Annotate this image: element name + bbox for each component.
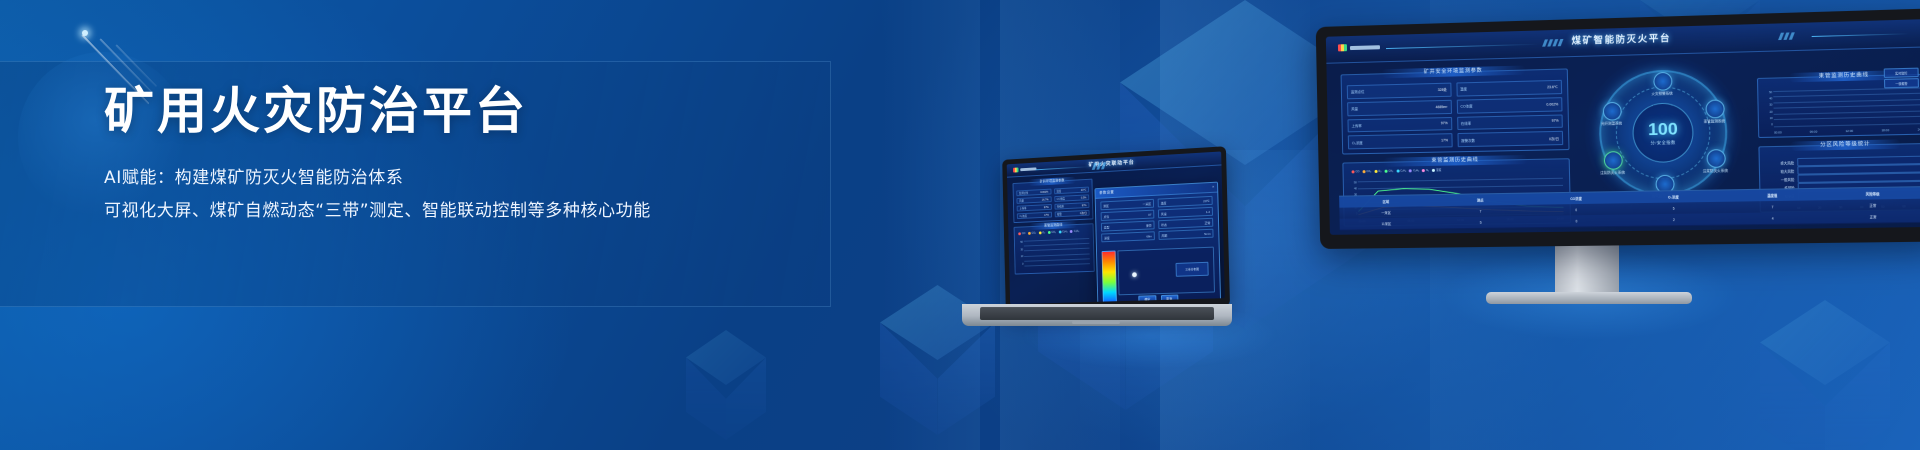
bar-label: 一般风险	[1767, 176, 1795, 182]
kv-label: 报警次数	[1461, 137, 1475, 142]
laptop-y-axis: 50 30 10 0	[1017, 241, 1024, 266]
risk-bars-caption: 分区风险等级统计	[1790, 139, 1901, 151]
table-cell: 正常	[1823, 213, 1920, 220]
table-header-cell: CO浓度	[1528, 195, 1625, 202]
legend-item: CO	[1352, 169, 1360, 173]
table-cell: 5	[1433, 220, 1528, 225]
right-trend-gridlines	[1773, 87, 1920, 126]
status-kv-grid: 监测点位328处 温度23.6℃ 风量4685m³ CO浓度0.002% 上传率…	[1347, 80, 1563, 150]
logo-mark-icon	[1338, 44, 1347, 51]
laptop-kv: 监测点位0.001%	[1016, 189, 1051, 197]
laptop-keyboard	[980, 307, 1214, 320]
y-tick: 20	[1763, 110, 1773, 113]
kv-label: 在线率	[1057, 204, 1064, 208]
hero-content: 矿用火灾防治平台 AI赋能：构建煤矿防灭火智能防治体系 可视化大屏、煤矿自燃动态…	[104, 82, 824, 228]
bar-label: 较大风险	[1766, 168, 1794, 174]
status-kv: 上传率97%	[1347, 116, 1451, 132]
field-label: 深度	[1104, 236, 1110, 240]
table-cell: 5	[1625, 205, 1723, 211]
y-tick: 50	[1763, 91, 1773, 94]
laptop-screen: 矿用火灾联动平台 矿井环境监测参数 监测点位0.001% 温度23℃ 风量16.…	[1007, 151, 1225, 304]
laptop-kv: 温度23℃	[1054, 187, 1089, 195]
kv-label: 上传率	[1019, 206, 1026, 210]
y-tick: 0	[1763, 123, 1773, 126]
field-value: 正常	[1204, 220, 1210, 224]
kv-label: 报警	[1057, 212, 1062, 216]
laptop-chart-caption: 束管监测曲线	[1030, 221, 1077, 230]
laptop-param-caption: 矿井环境监测参数	[1029, 177, 1076, 186]
legend-item: CO₂	[1362, 169, 1371, 173]
field-value: 束管	[1146, 223, 1152, 227]
modal-field[interactable]: 测区一采区	[1100, 199, 1154, 210]
gauge-node-label: 束管监测系统	[1693, 118, 1735, 124]
header-deco-bars-icon	[1543, 39, 1562, 47]
laptop-chart-panel: 束管监测曲线 CO CO₂ O₂ CH₄ C₂H₄ C₂H₆ 50 30	[1014, 223, 1095, 274]
status-kv: 在线率97%	[1457, 114, 1563, 130]
legend-item: N₂	[1422, 168, 1429, 172]
page-title: 矿用火灾防治平台	[104, 82, 824, 140]
y-tick: 0	[1017, 263, 1023, 266]
logo-text-icon	[1020, 167, 1036, 171]
modal-field[interactable]: 状态正常	[1158, 218, 1213, 229]
laptop-base	[962, 304, 1232, 326]
kv-label: 风量	[1019, 199, 1024, 203]
kv-value: 0次/日	[1549, 136, 1559, 141]
field-label: 状态	[1161, 222, 1167, 226]
table-cell: 4	[1723, 215, 1823, 221]
legend-item: 温度	[1432, 168, 1441, 172]
modal-field[interactable]: 点位07	[1101, 210, 1155, 221]
monitor-screen: 煤矿智能防灭火平台 矿井安全环境监测参数 监测点位328处 温度	[1326, 19, 1920, 235]
table-cell: 0	[1528, 207, 1625, 213]
kv-label: 监测点位	[1019, 191, 1028, 195]
modal-field[interactable]: 周期5min	[1158, 229, 1213, 240]
legend-item: CO	[1018, 232, 1025, 235]
y-tick: 10	[1763, 117, 1773, 120]
modal-form: 测区一采区 温度23℃ 点位07 风速1.2 类型束管 状态正常 深度68m 周…	[1100, 196, 1213, 242]
laptop-kv-grid: 监测点位0.001% 温度23℃ 风量16.7% CO浓度0.3% 上传率97%…	[1016, 187, 1089, 220]
table-header-cell: 区域	[1339, 198, 1433, 205]
gauge-node-label: 光纤测温系统	[1591, 120, 1633, 126]
logo-text-icon	[1350, 45, 1380, 50]
settings-modal[interactable]: 参数设置 × 测区一采区 温度23℃ 点位07 风速1.2 类型束管 状态正常 …	[1094, 182, 1221, 305]
close-icon[interactable]: ×	[1212, 184, 1214, 188]
legend-item: CH₄	[1048, 231, 1056, 234]
kv-label: 温度	[1056, 189, 1061, 193]
kv-label: 温度	[1460, 87, 1467, 92]
status-panel: 矿井安全环境监测参数 监测点位328处 温度23.6℃ 风量4685m³ CO浓…	[1341, 68, 1570, 154]
status-panel-caption: 矿井安全环境监测参数	[1381, 65, 1525, 78]
x-tick: 00:00	[1774, 130, 1782, 134]
safety-gauge: 100 分/安全指数 火灾预警系统 束管监测系统 光纤测温系统 注氮防灭火系统 …	[1583, 54, 1744, 212]
kv-label: 监测点位	[1351, 89, 1365, 94]
trend-panel-caption: 束管监测历史曲线	[1383, 155, 1527, 167]
kv-value: 16.7%	[1042, 198, 1049, 201]
field-value: 68m	[1146, 234, 1152, 238]
y-tick: 50	[1348, 181, 1357, 184]
table-cell: 7	[1433, 208, 1528, 213]
badge-realtime[interactable]: 实时监控	[1884, 68, 1919, 78]
right-trend-y-axis: 50 40 30 20 10 0	[1763, 91, 1773, 126]
x-tick: 06:00	[1810, 130, 1818, 134]
laptop-kv: 在线率97%	[1054, 202, 1089, 210]
logo-mark-icon	[1013, 167, 1018, 172]
y-tick: 30	[1763, 104, 1773, 107]
table-header-cell: O₂浓度	[1624, 194, 1722, 201]
gauge-node-label: 注浆防灭火系统	[1694, 167, 1736, 173]
laptop-trackpad	[1072, 321, 1120, 324]
status-kv: 温度23.6℃	[1456, 80, 1562, 97]
kv-value: 328处	[1438, 87, 1447, 92]
laptop-device: 矿用火灾联动平台 矿井环境监测参数 监测点位0.001% 温度23℃ 风量16.…	[962, 146, 1232, 326]
monitor-bezel: 煤矿智能防灭火平台 矿井安全环境监测参数 监测点位328处 温度	[1316, 8, 1920, 249]
field-value: 一采区	[1143, 201, 1152, 205]
laptop-lid: 矿用火灾联动平台 矿井环境监测参数 监测点位0.001% 温度23℃ 风量16.…	[1002, 146, 1230, 312]
monitor-dashboard: 煤矿智能防灭火平台 矿井安全环境监测参数 监测点位328处 温度	[1326, 19, 1920, 235]
hero-banner: 矿用火灾防治平台 AI赋能：构建煤矿防灭火智能防治体系 可视化大屏、煤矿自燃动态…	[0, 0, 1920, 450]
y-tick: 50	[1017, 241, 1023, 244]
laptop-kv: O₂浓度17%	[1017, 212, 1052, 219]
kv-value: 97%	[1044, 206, 1049, 209]
hero-subtitle-line-1: AI赋能：构建煤矿防灭火智能防治体系	[104, 162, 824, 195]
kv-value: 0次/日	[1080, 211, 1087, 215]
laptop-gridlines	[1024, 238, 1090, 266]
legend-item: C₂H₆	[1070, 230, 1079, 233]
hero-subtitles: AI赋能：构建煤矿防灭火智能防治体系 可视化大屏、煤矿自燃动态“三带”测定、智能…	[104, 162, 824, 228]
table-cell: 0	[1528, 218, 1625, 223]
laptop-kv: 风量16.7%	[1016, 196, 1051, 204]
kv-value: 97%	[1552, 119, 1559, 123]
y-tick: 10	[1017, 255, 1023, 258]
decorative-cube	[1760, 300, 1890, 450]
table-cell: 7	[1723, 204, 1823, 210]
monitor-stand	[1555, 244, 1619, 298]
kv-value: 23.6℃	[1547, 85, 1558, 89]
monitor-base	[1486, 292, 1692, 304]
field-label: 温度	[1161, 201, 1167, 205]
kv-value: 17%	[1441, 138, 1448, 142]
cancel-button[interactable]: 取消	[1161, 295, 1178, 303]
kv-value: 0.3%	[1081, 196, 1087, 199]
kv-value: 17%	[1044, 213, 1049, 216]
gauge-value: 100	[1648, 119, 1678, 140]
y-tick: 40	[1348, 188, 1357, 191]
header-deco-bars-icon	[1779, 32, 1793, 40]
laptop-param-panel: 矿井环境监测参数 监测点位0.001% 温度23℃ 风量16.7% CO浓度0.…	[1013, 179, 1094, 223]
table-header-cell: 测点	[1433, 197, 1528, 204]
kv-value: 0.002%	[1546, 102, 1558, 106]
gauge-node-label: 火灾预警系统	[1641, 90, 1683, 96]
status-kv: 报警次数0次/日	[1457, 131, 1563, 147]
kv-label: 在线率	[1461, 120, 1471, 125]
right-trend-x-axis: 00:00 06:00 12:00 18:00 24:00	[1774, 127, 1920, 134]
hero-subtitle-line-2: 可视化大屏、煤矿自燃动态“三带”测定、智能联动控制等多种核心功能	[104, 195, 824, 228]
badge-alarm[interactable]: 一键报警	[1884, 78, 1919, 88]
trend-legend: CO CO₂ O₂ CH₄ C₂H₄ C₂H₆ N₂ 温度	[1352, 165, 1563, 173]
field-label: 周期	[1161, 233, 1167, 237]
legend-item: O₂	[1039, 231, 1045, 234]
plot-marker-icon	[1132, 272, 1137, 277]
laptop-kv: CO浓度0.3%	[1054, 194, 1089, 202]
gauge-node[interactable]	[1706, 149, 1725, 168]
laptop-kv: 上传率97%	[1017, 204, 1052, 211]
table-cell: 2	[1625, 217, 1723, 222]
status-kv: 风量4685m³	[1347, 100, 1451, 116]
kv-value: 97%	[1441, 121, 1448, 125]
table-cell: 11采区	[1340, 220, 1434, 226]
kv-label: O₂浓度	[1020, 214, 1027, 218]
table-cell: 正常	[1822, 202, 1920, 209]
legend-item: O₂	[1374, 169, 1381, 173]
modal-field[interactable]: 类型束管	[1101, 220, 1155, 231]
gauge-unit: 分/安全指数	[1650, 140, 1675, 147]
kv-label: 上传率	[1352, 123, 1362, 128]
dashboard-logo	[1338, 43, 1380, 51]
field-label: 类型	[1104, 225, 1110, 229]
legend-item: C₂H₄	[1396, 168, 1406, 172]
field-value: 07	[1148, 212, 1151, 216]
field-value: 1.2	[1206, 209, 1210, 213]
table-header-cell: 风险等级	[1822, 190, 1920, 197]
laptop-kv: 报警0次/日	[1054, 210, 1089, 217]
decorative-cube	[686, 330, 766, 440]
plot-note: 三带分布图	[1176, 262, 1209, 277]
y-tick: 30	[1017, 248, 1023, 251]
x-tick: 12:00	[1845, 129, 1853, 133]
gauge-node-label: 注氮防灭火系统	[1592, 169, 1634, 175]
kv-label: 风量	[1351, 106, 1358, 111]
legend-item: C₂H₄	[1058, 230, 1067, 233]
modal-field[interactable]: 温度23℃	[1158, 196, 1213, 208]
y-tick: 40	[1763, 97, 1773, 100]
status-kv: 监测点位328处	[1347, 83, 1451, 99]
desktop-monitor: 煤矿智能防灭火平台 矿井安全环境监测参数 监测点位328处 温度	[1318, 27, 1918, 249]
kv-label: O₂浓度	[1352, 140, 1363, 145]
status-kv: CO浓度0.002%	[1456, 97, 1562, 113]
kv-value: 23℃	[1081, 188, 1086, 191]
modal-field[interactable]: 深度68m	[1101, 231, 1155, 242]
three-zone-plot: 三带分布图	[1117, 247, 1215, 296]
field-label: 风速	[1161, 211, 1167, 215]
kv-label: CO浓度	[1057, 197, 1065, 201]
table-cell: 一采区	[1339, 209, 1433, 215]
legend-item: CH₄	[1384, 169, 1393, 173]
legend-item: CO₂	[1028, 232, 1036, 235]
status-kv: O₂浓度17%	[1348, 133, 1452, 149]
confirm-button[interactable]: 确定	[1139, 295, 1156, 303]
header-deco-bars-icon	[1093, 162, 1105, 169]
kv-value: 97%	[1082, 204, 1087, 207]
kv-value: 0.001%	[1040, 190, 1048, 193]
field-label: 测区	[1103, 204, 1109, 208]
legend-item: C₂H₆	[1409, 168, 1419, 172]
kv-label: CO浓度	[1460, 103, 1472, 108]
field-value: 5min	[1204, 231, 1210, 235]
kv-value: 4685m³	[1436, 105, 1448, 109]
table-header-cell: 温度值	[1723, 192, 1823, 199]
right-trend-caption: 束管监测历史曲线	[1789, 70, 1900, 82]
field-label: 点位	[1103, 214, 1109, 218]
x-tick: 18:00	[1881, 128, 1889, 132]
bar-label: 重大风险	[1766, 160, 1794, 166]
modal-title: 参数设置	[1099, 190, 1114, 196]
laptop-legend: CO CO₂ O₂ CH₄ C₂H₄ C₂H₆	[1018, 229, 1090, 235]
modal-field[interactable]: 风速1.2	[1158, 207, 1213, 219]
field-value: 23℃	[1203, 198, 1210, 202]
